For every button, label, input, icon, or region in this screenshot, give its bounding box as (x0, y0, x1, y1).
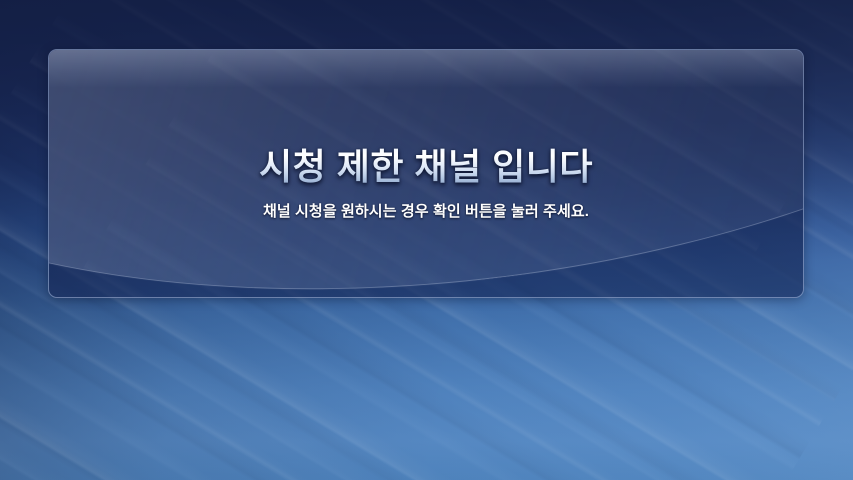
background-bottom-glow (0, 290, 853, 480)
panel-content: 시청 제한 채널 입니다 채널 시청을 원하시는 경우 확인 버튼을 눌러 주세… (49, 50, 803, 297)
tv-screen: 시청 제한 채널 입니다 채널 시청을 원하시는 경우 확인 버튼을 눌러 주세… (0, 0, 853, 480)
restriction-instruction: 채널 시청을 원하시는 경우 확인 버튼을 눌러 주세요. (263, 200, 589, 221)
restriction-title: 시청 제한 채널 입니다 (259, 147, 593, 187)
message-panel: 시청 제한 채널 입니다 채널 시청을 원하시는 경우 확인 버튼을 눌러 주세… (48, 49, 804, 298)
